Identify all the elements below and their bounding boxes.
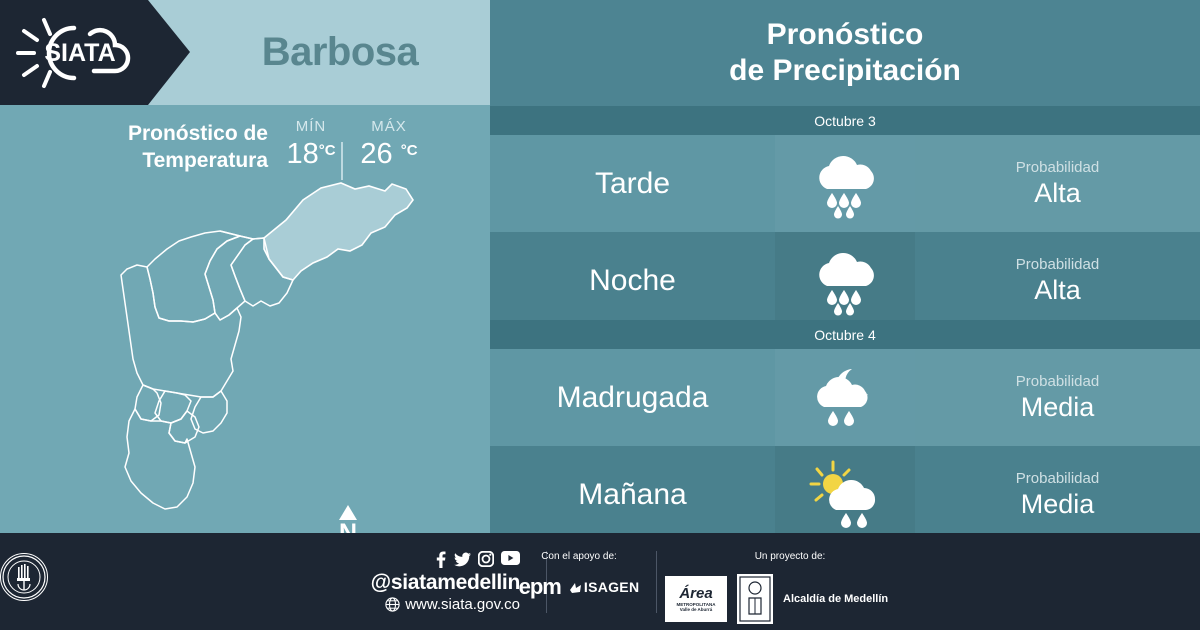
alcaldia-shield-icon [737,574,773,624]
moon-rain-cloud-icon [775,349,915,446]
social-block: @siatamedellin www.siata.gov.co [320,551,520,614]
temperature-title-line1: Pronóstico de [18,120,268,147]
temperature-min-value: 18 [286,138,318,170]
map-region-envigado [191,391,227,433]
period-label: Mañana [490,446,775,543]
date-bar-october-4: Octubre 4 [490,320,1200,349]
temperature-max-unit: °C [401,142,418,159]
moon-rain-cloud-glyph [806,363,884,433]
probability-value: Alta [1034,274,1081,306]
support-block: Con el apoyo de: epm ISAGEN [512,551,646,600]
sun-rain-cloud-glyph [806,460,884,530]
logo-chevron-shape: SIATA [0,0,190,105]
rain-cloud-icon [775,135,915,232]
isagen-mark-icon [569,581,582,594]
probability-cell: Probabilidad Alta [915,232,1200,329]
udea-seal-glyph [1,554,47,600]
compass-arrow-icon [339,505,357,520]
probability-label: Probabilidad [1016,469,1099,488]
temperature-min: MÍN 18°C [277,118,345,170]
temperature-title-line2: Temperatura [18,147,268,174]
temperature-max: MÁX 26 °C [348,118,430,170]
rain-cloud-glyph [806,149,884,219]
svg-text:SIATA: SIATA [44,39,115,67]
globe-icon [385,597,400,612]
area-logo-name: Área [679,586,712,602]
weather-forecast-infographic: SIATA Barbosa Pronóstico de Temperatura … [0,0,1200,630]
map-region-copacabana [205,236,253,320]
rain-cloud-icon [775,232,915,329]
support-label: Con el apoyo de: [512,551,646,562]
website-url[interactable]: www.siata.gov.co [405,595,520,614]
map-region-barbosa-boundary [220,231,264,239]
date-bar-october-3: Octubre 3 [490,106,1200,135]
probability-cell: Probabilidad Alta [915,135,1200,232]
temperature-title: Pronóstico de Temperatura [18,120,268,174]
project-block: Un proyecto de: Área METROPOLITANA Valle… [665,551,915,624]
epm-logo: epm [519,574,561,600]
page-title: Barbosa [190,0,490,105]
probability-label: Probabilidad [1016,255,1099,274]
probability-value: Alta [1034,177,1081,209]
map-region-medellin [121,265,241,397]
support-logos: epm ISAGEN [512,574,646,600]
left-header-bar: SIATA Barbosa [0,0,490,105]
alcaldia-shield-glyph [737,574,773,624]
sun-rain-cloud-icon [775,446,915,543]
probability-value: Media [1021,391,1095,423]
period-label: Madrugada [490,349,775,446]
period-label: Noche [490,232,775,329]
website-row[interactable]: www.siata.gov.co [320,595,520,614]
precipitation-panel: Pronóstico de Precipitación Octubre 3 Ta… [490,0,1200,533]
map-svg [55,175,455,530]
aburra-valley-map: N [55,175,455,530]
temperature-min-value-wrap: 18°C [277,135,345,170]
precipitation-title-line2: de Precipitación [729,53,961,89]
forecast-row: Noche Probabilidad Alta [490,232,1200,329]
isagen-logo: ISAGEN [569,579,639,595]
project-label: Un proyecto de: [665,551,915,562]
footer: @siatamedellin www.siata.gov.co Con el a… [0,533,1200,630]
probability-cell: Probabilidad Media [915,446,1200,543]
probability-cell: Probabilidad Media [915,349,1200,446]
map-region-caldas [125,409,195,509]
temperature-max-value: 26 [360,138,392,170]
probability-label: Probabilidad [1016,372,1099,391]
period-label: Tarde [490,135,775,232]
temperature-min-unit: °C [319,142,336,159]
instagram-icon[interactable] [478,551,494,567]
temperature-max-value-wrap: 26 °C [348,135,430,170]
map-region-barbosa [264,183,413,280]
siata-logo-icon: SIATA [14,14,146,92]
twitter-icon[interactable] [454,551,471,568]
footer-divider [656,551,657,613]
udea-seal-icon [0,553,48,601]
temperature-min-label: MÍN [277,118,345,135]
alcaldia-label: Alcaldía de Medellín [783,593,888,605]
forecast-row: Mañana [490,446,1200,543]
probability-label: Probabilidad [1016,158,1099,177]
social-handle[interactable]: @siatamedellin [320,570,520,595]
precipitation-title-line1: Pronóstico [767,17,924,53]
forecast-row: Madrugada Probabilidad Media [490,349,1200,446]
rain-cloud-glyph [806,246,884,316]
map-region-bello [147,231,240,322]
area-metropolitana-logo: Área METROPOLITANA Valle de Aburrá [665,576,727,622]
precipitation-title: Pronóstico de Precipitación [490,0,1200,105]
forecast-row: Tarde Probabilidad Alta [490,135,1200,232]
project-logos: Área METROPOLITANA Valle de Aburrá Alcal… [665,574,915,624]
temperature-panel: SIATA Barbosa Pronóstico de Temperatura … [0,0,490,533]
area-logo-sub2: Valle de Aburrá [680,607,713,613]
social-icons [320,551,520,568]
temperature-max-label: MÁX [348,118,430,135]
facebook-icon[interactable] [434,551,447,568]
probability-value: Media [1021,488,1095,520]
